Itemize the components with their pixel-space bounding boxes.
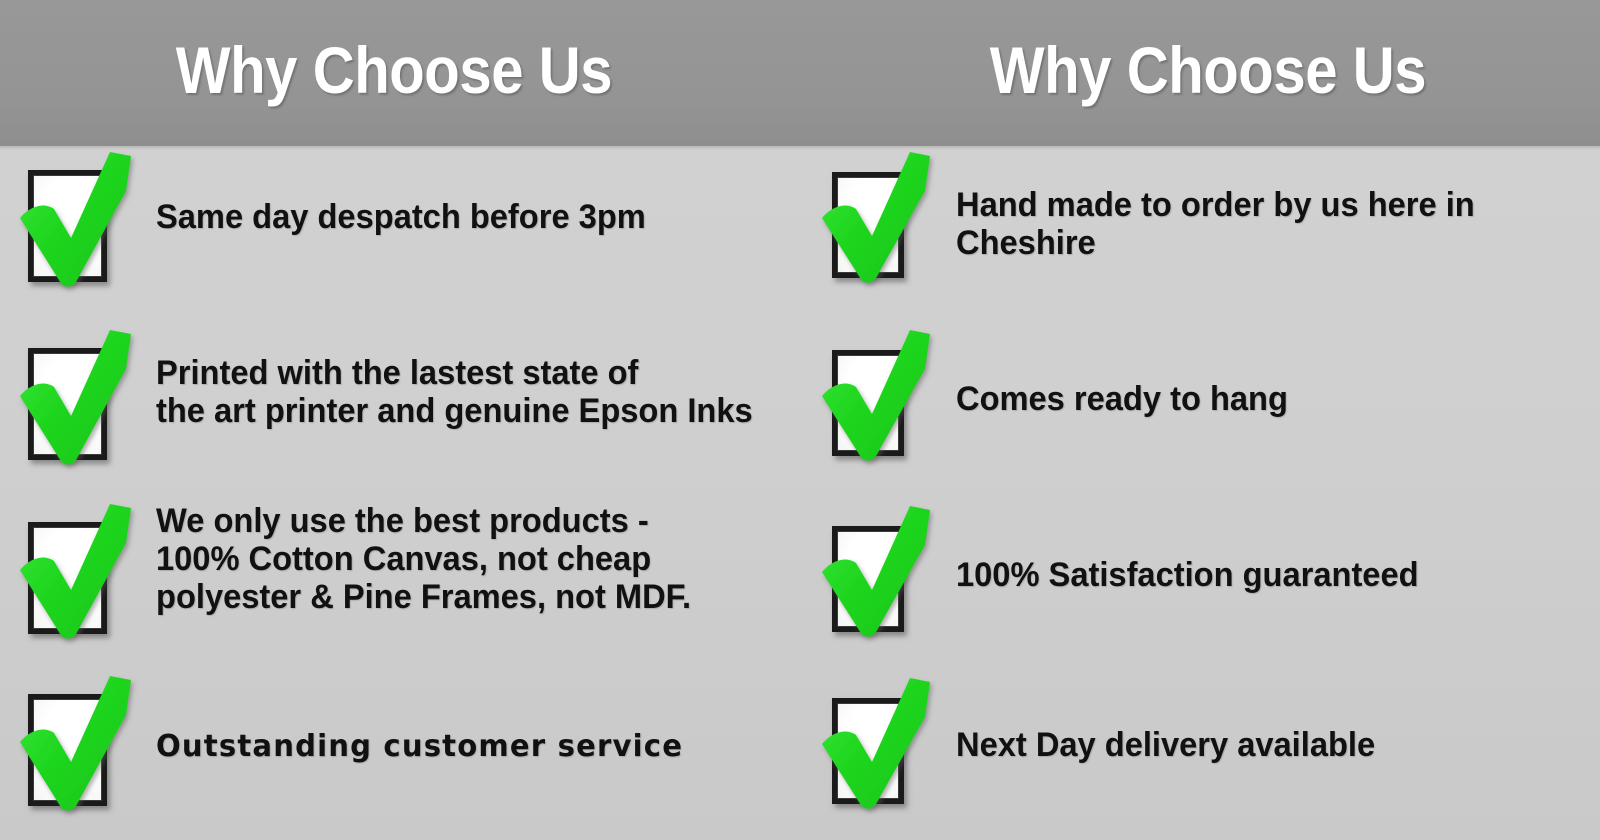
list-item-label: Printed with the lastest state of the ar… [156,354,753,430]
list-item: Next Day delivery available [814,670,1393,820]
why-choose-us-banner: Why Choose Us Why Choose Us [0,0,1600,840]
left-column: Same day despatch before 3pm Printed wit… [0,146,800,840]
list-item-label: Hand made to order by us here in Cheshir… [956,186,1475,262]
checkbox-frame [832,172,904,278]
checkbox-frame [832,698,904,804]
feature-columns: Same day despatch before 3pm Printed wit… [0,146,1600,840]
green-check-in-box-icon [814,670,942,820]
list-item: Outstanding customer service [14,670,699,820]
list-item-label: 100% Satisfaction guaranteed [956,556,1419,594]
list-item-label: Same day despatch before 3pm [156,198,646,236]
page-title-left: Why Choose Us [176,37,612,109]
page-title-right: Why Choose Us [990,37,1426,109]
list-item-label: Comes ready to hang [956,380,1288,418]
header-cell-right: Why Choose Us [800,0,1600,146]
green-check-in-box-icon [14,670,142,820]
checkbox-frame [28,522,107,634]
checkbox-frame [28,170,107,282]
checkbox-frame [28,694,107,806]
list-item: 100% Satisfaction guaranteed [814,498,1438,648]
green-check-in-box-icon [814,322,942,472]
list-item: Comes ready to hang [814,322,1302,472]
checkbox-frame [28,348,107,460]
green-check-in-box-icon [814,498,942,648]
list-item: Same day despatch before 3pm [14,146,666,296]
list-item: Printed with the lastest state of the ar… [14,324,778,474]
list-item-label: Outstanding customer service [156,730,683,764]
list-item: We only use the best products - 100% Cot… [14,498,713,648]
green-check-in-box-icon [14,324,142,474]
green-check-in-box-icon [14,498,142,648]
right-column: Hand made to order by us here in Cheshir… [800,146,1600,840]
green-check-in-box-icon [14,146,142,296]
list-item-label: Next Day delivery available [956,726,1375,764]
green-check-in-box-icon [814,144,942,294]
checkbox-frame [832,526,904,632]
header-bar: Why Choose Us Why Choose Us [0,0,1600,146]
checkbox-frame [832,350,904,456]
list-item: Hand made to order by us here in Cheshir… [814,144,1496,294]
list-item-label: We only use the best products - 100% Cot… [156,502,691,616]
header-cell-left: Why Choose Us [0,0,800,146]
